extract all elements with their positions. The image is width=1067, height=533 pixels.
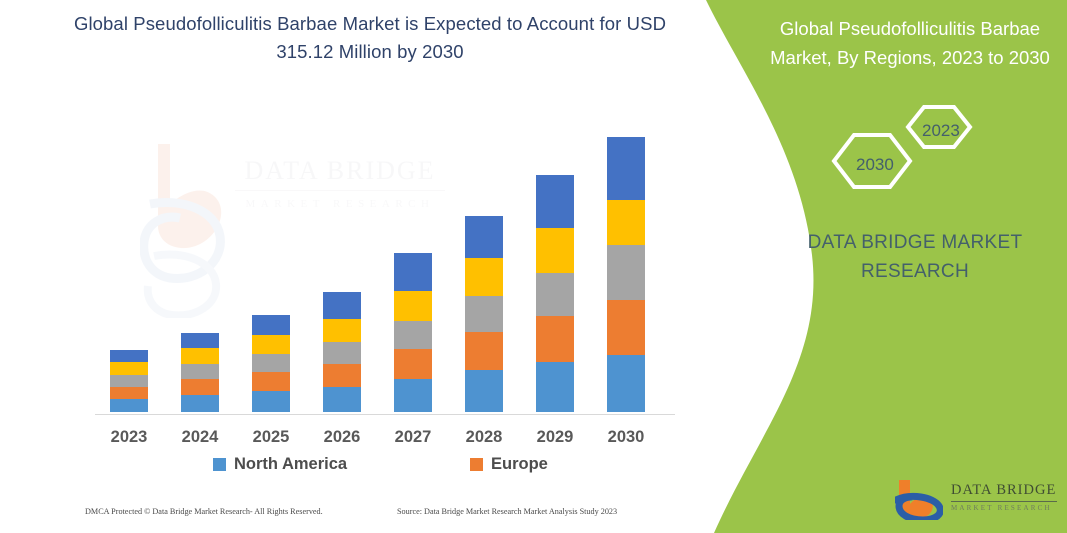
bar-segment — [110, 362, 148, 375]
bar-segment — [607, 355, 645, 412]
bar-segment — [110, 399, 148, 412]
x-axis-label-2030: 2030 — [596, 428, 656, 447]
bar-2027[interactable] — [394, 253, 432, 412]
panel-title: Global Pseudofolliculitis Barbae Market,… — [760, 14, 1060, 72]
bar-segment — [536, 362, 574, 412]
legend-label: Europe — [491, 455, 548, 474]
bar-segment — [465, 258, 503, 296]
legend-swatch-icon — [213, 458, 226, 471]
bar-segment — [465, 296, 503, 332]
x-axis-labels: 20232024202520262027202820292030 — [95, 428, 675, 452]
bar-segment — [323, 319, 361, 342]
x-axis-label-2026: 2026 — [312, 428, 372, 447]
x-axis-label-2024: 2024 — [170, 428, 230, 447]
bar-segment — [252, 315, 290, 335]
brand-logo-line2: MARKET RESEARCH — [951, 504, 1061, 512]
footer-copyright: DMCA Protected © Data Bridge Market Rese… — [85, 507, 323, 516]
bar-2026[interactable] — [323, 292, 361, 412]
bar-segment — [181, 364, 219, 379]
infographic-canvas: Global Pseudofolliculitis Barbae Market … — [0, 0, 1067, 533]
bar-segment — [110, 350, 148, 362]
x-axis-label-2025: 2025 — [241, 428, 301, 447]
bar-segment — [536, 273, 574, 316]
bar-segment — [394, 291, 432, 321]
bar-segment — [465, 216, 503, 258]
brand-logo: DATA BRIDGE MARKET RESEARCH — [895, 478, 1060, 522]
bar-2029[interactable] — [536, 175, 574, 412]
bar-segment — [181, 379, 219, 395]
bar-segment — [323, 292, 361, 319]
panel-brand-line2: RESEARCH — [790, 257, 1040, 286]
brand-logo-mark-icon — [895, 478, 943, 520]
bar-segment — [536, 228, 574, 273]
legend-label: North America — [234, 455, 347, 474]
bar-segment — [394, 349, 432, 379]
bar-segment — [465, 332, 503, 370]
bar-segment — [181, 395, 219, 412]
brand-logo-text: DATA BRIDGE MARKET RESEARCH — [951, 482, 1061, 512]
bar-segment — [110, 387, 148, 399]
legend-item-north-america[interactable]: North America — [213, 455, 347, 474]
bar-segment — [465, 370, 503, 412]
panel-brand: DATA BRIDGE MARKET RESEARCH — [790, 228, 1040, 286]
x-axis-label-2028: 2028 — [454, 428, 514, 447]
bar-segment — [252, 391, 290, 412]
bar-segment — [323, 364, 361, 387]
bar-segment — [607, 300, 645, 355]
bar-segment — [110, 375, 148, 387]
bar-segment — [607, 245, 645, 300]
x-axis-label-2023: 2023 — [99, 428, 159, 447]
legend-item-europe[interactable]: Europe — [470, 455, 548, 474]
page-title: Global Pseudofolliculitis Barbae Market … — [60, 10, 680, 66]
bars-container — [95, 120, 675, 412]
hexagon-large-label: 2030 — [856, 155, 894, 175]
bar-segment — [181, 333, 219, 348]
x-axis-line — [95, 414, 675, 415]
bar-2023[interactable] — [110, 350, 148, 412]
bar-segment — [536, 316, 574, 362]
x-axis-label-2029: 2029 — [525, 428, 585, 447]
chart-legend: North AmericaEurope — [95, 455, 675, 481]
bar-2028[interactable] — [465, 216, 503, 412]
footer-source: Source: Data Bridge Market Research Mark… — [397, 507, 617, 516]
brand-logo-line1: DATA BRIDGE — [951, 482, 1061, 499]
legend-swatch-icon — [470, 458, 483, 471]
brand-logo-divider — [951, 501, 1057, 502]
footer: DMCA Protected © Data Bridge Market Rese… — [85, 507, 685, 525]
bar-segment — [252, 354, 290, 372]
bar-segment — [323, 387, 361, 412]
x-axis-label-2027: 2027 — [383, 428, 443, 447]
bar-2024[interactable] — [181, 333, 219, 412]
bar-segment — [181, 348, 219, 364]
bar-segment — [607, 200, 645, 245]
hexagon-small-label: 2023 — [922, 121, 960, 141]
bar-segment — [394, 253, 432, 291]
bar-2025[interactable] — [252, 315, 290, 412]
bar-segment — [394, 321, 432, 349]
hexagon-group: 2030 2023 — [820, 95, 1000, 205]
stacked-bar-chart — [95, 120, 675, 415]
bar-segment — [394, 379, 432, 412]
panel-brand-line1: DATA BRIDGE MARKET — [790, 228, 1040, 257]
bar-segment — [252, 372, 290, 391]
bar-segment — [536, 175, 574, 228]
bar-segment — [252, 335, 290, 354]
bar-segment — [607, 137, 645, 200]
bar-segment — [323, 342, 361, 364]
bar-2030[interactable] — [607, 137, 645, 412]
